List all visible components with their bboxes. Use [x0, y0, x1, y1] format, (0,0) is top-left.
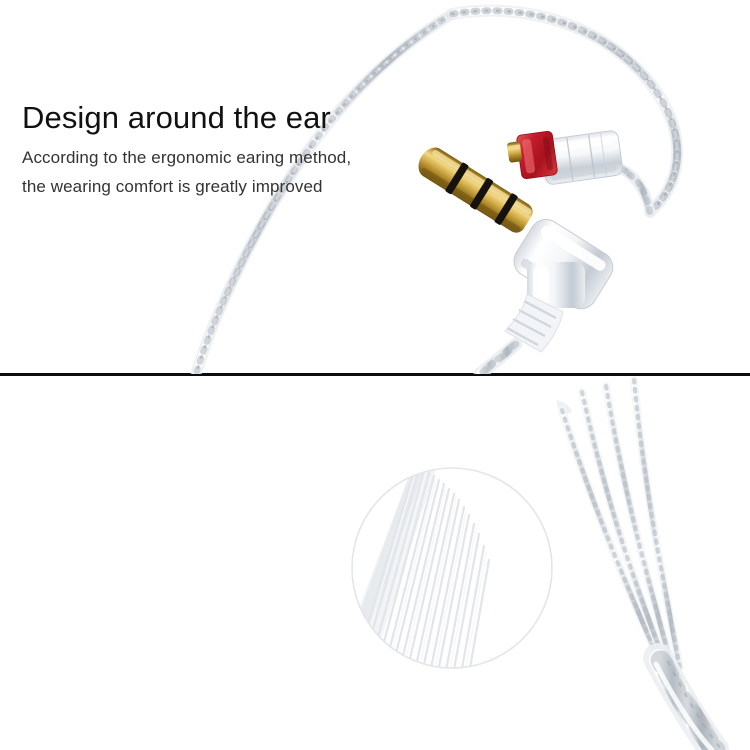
- feature-text-top: Design around the ear According to the e…: [22, 100, 351, 201]
- wire-core-photo-bottom: [0, 376, 750, 750]
- cable-to-mmcx-connector: [620, 168, 650, 212]
- cable-under-jack: [480, 344, 516, 374]
- body-line-top-2: the wearing comfort is greatly improved: [22, 173, 351, 202]
- feature-panel-design-around-the-ear: Design around the ear According to the e…: [0, 0, 750, 374]
- headline-design-around-the-ear: Design around the ear: [22, 100, 351, 136]
- body-line-top-1: According to the ergonomic earing method…: [22, 144, 351, 173]
- feature-panel-use-high-quality-core: Use high quality core We use silver-plat…: [0, 376, 750, 750]
- splayed-wire-strands: [556, 380, 722, 750]
- product-feature-banner: Design around the ear According to the e…: [0, 0, 750, 750]
- braided-cable-bundle: [656, 658, 722, 750]
- red-mmcx-connector: [507, 130, 624, 185]
- wire-core-magnifier: [322, 468, 552, 706]
